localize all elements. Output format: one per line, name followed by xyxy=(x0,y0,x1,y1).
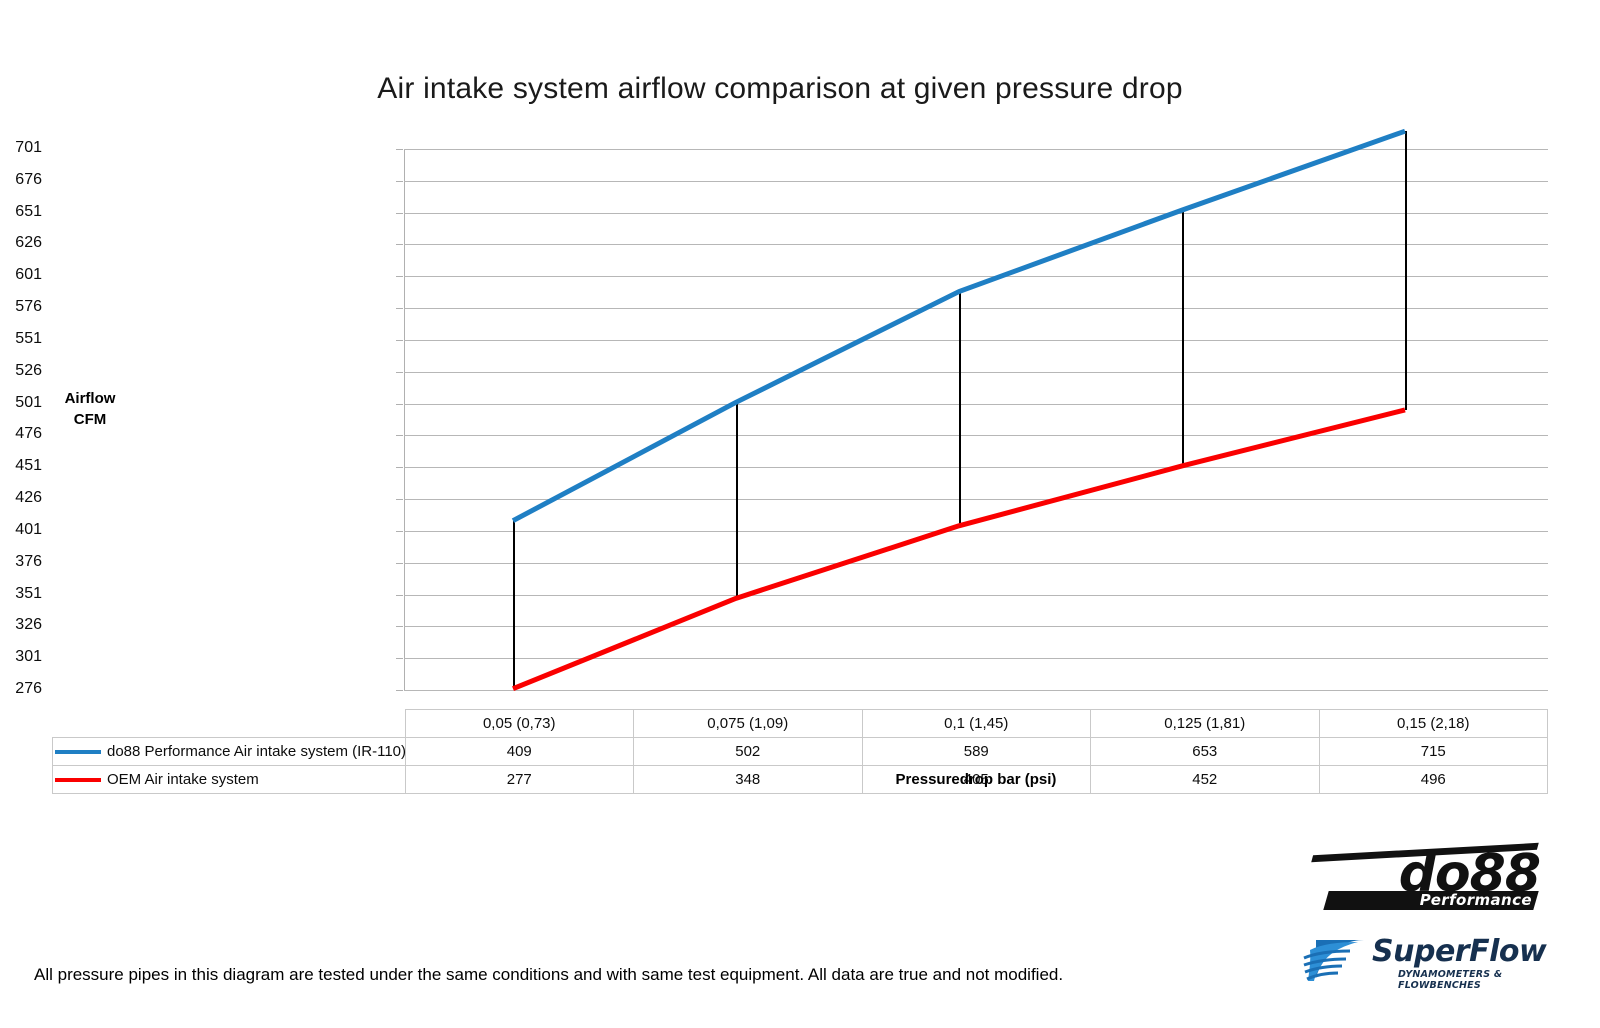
x-category-label: 0,05 (0,73) xyxy=(405,710,634,738)
table-value-cell: 409 xyxy=(405,738,634,766)
plot-area xyxy=(404,149,1548,690)
y-tick-label: 326 xyxy=(0,616,42,634)
gridline xyxy=(404,690,1548,691)
y-tick-label: 551 xyxy=(0,330,42,348)
y-tick-label: 576 xyxy=(0,298,42,316)
legend-entry-2[interactable]: OEM Air intake system xyxy=(53,766,406,794)
series-line-1 xyxy=(513,131,1405,521)
legend-entry-1[interactable]: do88 Performance Air intake system (IR-1… xyxy=(53,738,406,766)
y-tick-mark xyxy=(396,276,403,277)
y-tick-label: 401 xyxy=(0,521,42,539)
y-axis-title-line1: Airflow xyxy=(30,388,150,409)
y-tick-label: 376 xyxy=(0,553,42,571)
y-tick-mark xyxy=(396,372,403,373)
series-lines xyxy=(404,149,1548,690)
y-tick-label: 526 xyxy=(0,362,42,380)
x-axis-title: Pressuredrop bar (psi) xyxy=(404,771,1548,788)
y-tick-label: 676 xyxy=(0,171,42,189)
y-tick-mark xyxy=(396,181,403,182)
y-tick-mark xyxy=(396,626,403,627)
y-tick-label: 476 xyxy=(0,425,42,443)
table-row-categories: 0,05 (0,73)0,075 (1,09)0,1 (1,45)0,125 (… xyxy=(53,710,1548,738)
y-axis-title: Airflow CFM xyxy=(30,388,150,430)
y-tick-label: 701 xyxy=(0,139,42,157)
y-tick-label: 426 xyxy=(0,489,42,507)
y-tick-mark xyxy=(396,149,403,150)
legend-color-swatch xyxy=(55,750,101,754)
y-tick-label: 626 xyxy=(0,234,42,252)
table-value-cell: 653 xyxy=(1091,738,1320,766)
x-category-label: 0,1 (1,45) xyxy=(862,710,1091,738)
x-category-label: 0,125 (1,81) xyxy=(1091,710,1320,738)
y-tick-mark xyxy=(396,340,403,341)
x-category-label: 0,15 (2,18) xyxy=(1319,710,1548,738)
y-tick-mark xyxy=(396,595,403,596)
table-value-cell: 715 xyxy=(1319,738,1548,766)
y-tick-mark xyxy=(396,499,403,500)
y-tick-label: 351 xyxy=(0,585,42,603)
y-tick-mark xyxy=(396,244,403,245)
y-tick-label: 301 xyxy=(0,648,42,666)
superflow-swoosh-icon xyxy=(1302,934,1368,984)
do88-logo: do88 Performance xyxy=(1300,827,1536,912)
y-tick-mark xyxy=(396,531,403,532)
y-tick-mark xyxy=(396,658,403,659)
y-tick-label: 451 xyxy=(0,457,42,475)
y-tick-mark xyxy=(396,467,403,468)
y-tick-mark xyxy=(396,213,403,214)
y-tick-mark xyxy=(396,404,403,405)
superflow-tagline: DYNAMOMETERS & FLOWBENCHES xyxy=(1398,969,1550,991)
x-category-label: 0,075 (1,09) xyxy=(634,710,863,738)
table-value-cell: 589 xyxy=(862,738,1091,766)
y-tick-label: 276 xyxy=(0,680,42,698)
table-corner-cell xyxy=(53,710,406,738)
y-tick-mark xyxy=(396,435,403,436)
superflow-logo: SuperFlow DYNAMOMETERS & FLOWBENCHES xyxy=(1302,932,1550,988)
chart-title: Air intake system airflow comparison at … xyxy=(0,72,1560,106)
y-tick-mark xyxy=(396,308,403,309)
table-row: do88 Performance Air intake system (IR-1… xyxy=(53,738,1548,766)
legend-label: do88 Performance Air intake system (IR-1… xyxy=(107,744,406,760)
y-tick-mark xyxy=(396,563,403,564)
y-tick-label: 501 xyxy=(0,394,42,412)
table-value-cell: 502 xyxy=(634,738,863,766)
y-tick-mark xyxy=(396,690,403,691)
footnote: All pressure pipes in this diagram are t… xyxy=(34,965,1063,985)
y-axis-title-line2: CFM xyxy=(30,409,150,430)
do88-logo-subtitle: Performance xyxy=(1326,890,1532,910)
y-tick-label: 601 xyxy=(0,266,42,284)
superflow-wordmark: SuperFlow xyxy=(1372,936,1546,968)
legend-color-swatch xyxy=(55,778,101,782)
legend-label: OEM Air intake system xyxy=(107,772,259,788)
y-tick-label: 651 xyxy=(0,203,42,221)
